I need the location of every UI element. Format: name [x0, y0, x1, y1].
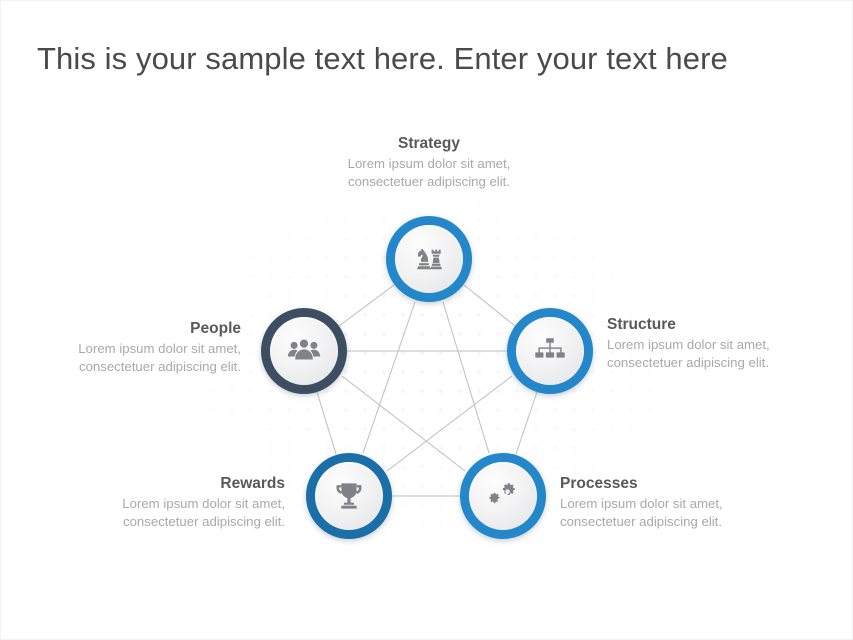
label-structure-line2: consectetuer adipiscing elit. — [607, 354, 837, 372]
label-people-heading: People — [19, 319, 241, 338]
label-strategy-line1: Lorem ipsum dolor sit amet, — [301, 155, 557, 173]
line-strategy-structure — [464, 285, 515, 326]
label-structure-heading: Structure — [607, 315, 837, 334]
gears-icon — [487, 480, 519, 512]
line-strategy-processes — [443, 302, 489, 453]
node-structure-inner — [516, 317, 584, 385]
label-strategy-line2: consectetuer adipiscing elit. — [301, 173, 557, 191]
line-people-rewards — [317, 392, 336, 454]
node-people[interactable] — [261, 308, 347, 394]
slide-canvas: This is your sample text here. Enter you… — [0, 0, 853, 640]
label-processes-line1: Lorem ipsum dolor sit amet, — [560, 495, 790, 513]
line-strategy-rewards — [363, 302, 415, 453]
node-strategy-inner — [395, 225, 463, 293]
label-rewards-line1: Lorem ipsum dolor sit amet, — [63, 495, 285, 513]
label-people-line1: Lorem ipsum dolor sit amet, — [19, 340, 241, 358]
line-structure-processes — [516, 392, 537, 454]
node-processes[interactable] — [460, 453, 546, 539]
node-people-inner — [270, 317, 338, 385]
line-strategy-people — [339, 285, 394, 326]
label-processes-heading: Processes — [560, 474, 790, 493]
people-group-icon — [287, 336, 321, 366]
label-strategy: Strategy Lorem ipsum dolor sit amet, con… — [301, 134, 557, 191]
label-rewards: Rewards Lorem ipsum dolor sit amet, cons… — [63, 474, 285, 531]
node-structure[interactable] — [507, 308, 593, 394]
chess-pieces-icon — [412, 242, 446, 276]
label-structure: Structure Lorem ipsum dolor sit amet, co… — [607, 315, 837, 372]
label-processes: Processes Lorem ipsum dolor sit amet, co… — [560, 474, 790, 531]
label-processes-line2: consectetuer adipiscing elit. — [560, 513, 790, 531]
label-rewards-heading: Rewards — [63, 474, 285, 493]
node-rewards[interactable] — [306, 453, 392, 539]
page-title: This is your sample text here. Enter you… — [37, 41, 728, 77]
org-chart-icon — [533, 337, 567, 365]
node-processes-inner — [469, 462, 537, 530]
label-people-line2: consectetuer adipiscing elit. — [19, 358, 241, 376]
node-strategy[interactable] — [386, 216, 472, 302]
label-strategy-heading: Strategy — [301, 134, 557, 153]
trophy-icon — [333, 480, 365, 512]
node-rewards-inner — [315, 462, 383, 530]
label-rewards-line2: consectetuer adipiscing elit. — [63, 513, 285, 531]
label-people: People Lorem ipsum dolor sit amet, conse… — [19, 319, 241, 376]
label-structure-line1: Lorem ipsum dolor sit amet, — [607, 336, 837, 354]
